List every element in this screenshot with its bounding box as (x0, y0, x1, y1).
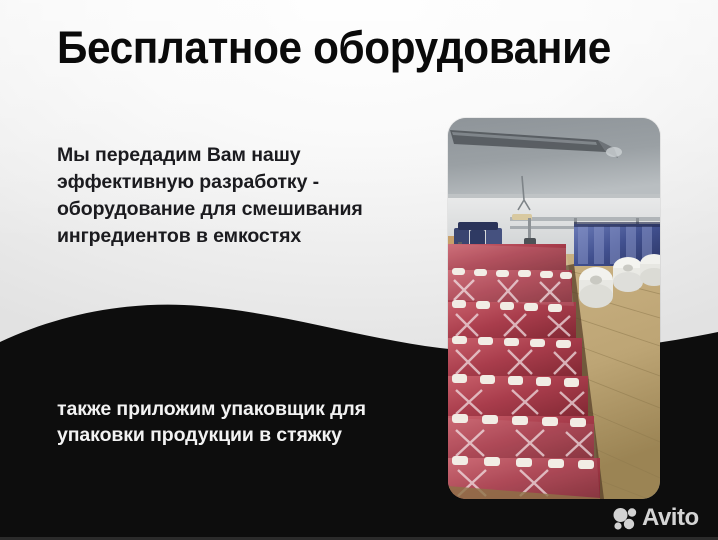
avito-wordmark: Avito (642, 506, 699, 530)
promo-slide: Бесплатное оборудование Мы передадим Вам… (0, 0, 718, 540)
avito-watermark: Avito (612, 503, 699, 533)
secondary-paragraph: также приложим упаковщик для упаковки пр… (57, 396, 397, 448)
avito-dots-icon (612, 506, 638, 530)
page-title: Бесплатное оборудование (57, 22, 659, 74)
lead-paragraph: Мы передадим Вам нашу эффективную разраб… (57, 142, 427, 250)
product-photo (448, 118, 660, 499)
